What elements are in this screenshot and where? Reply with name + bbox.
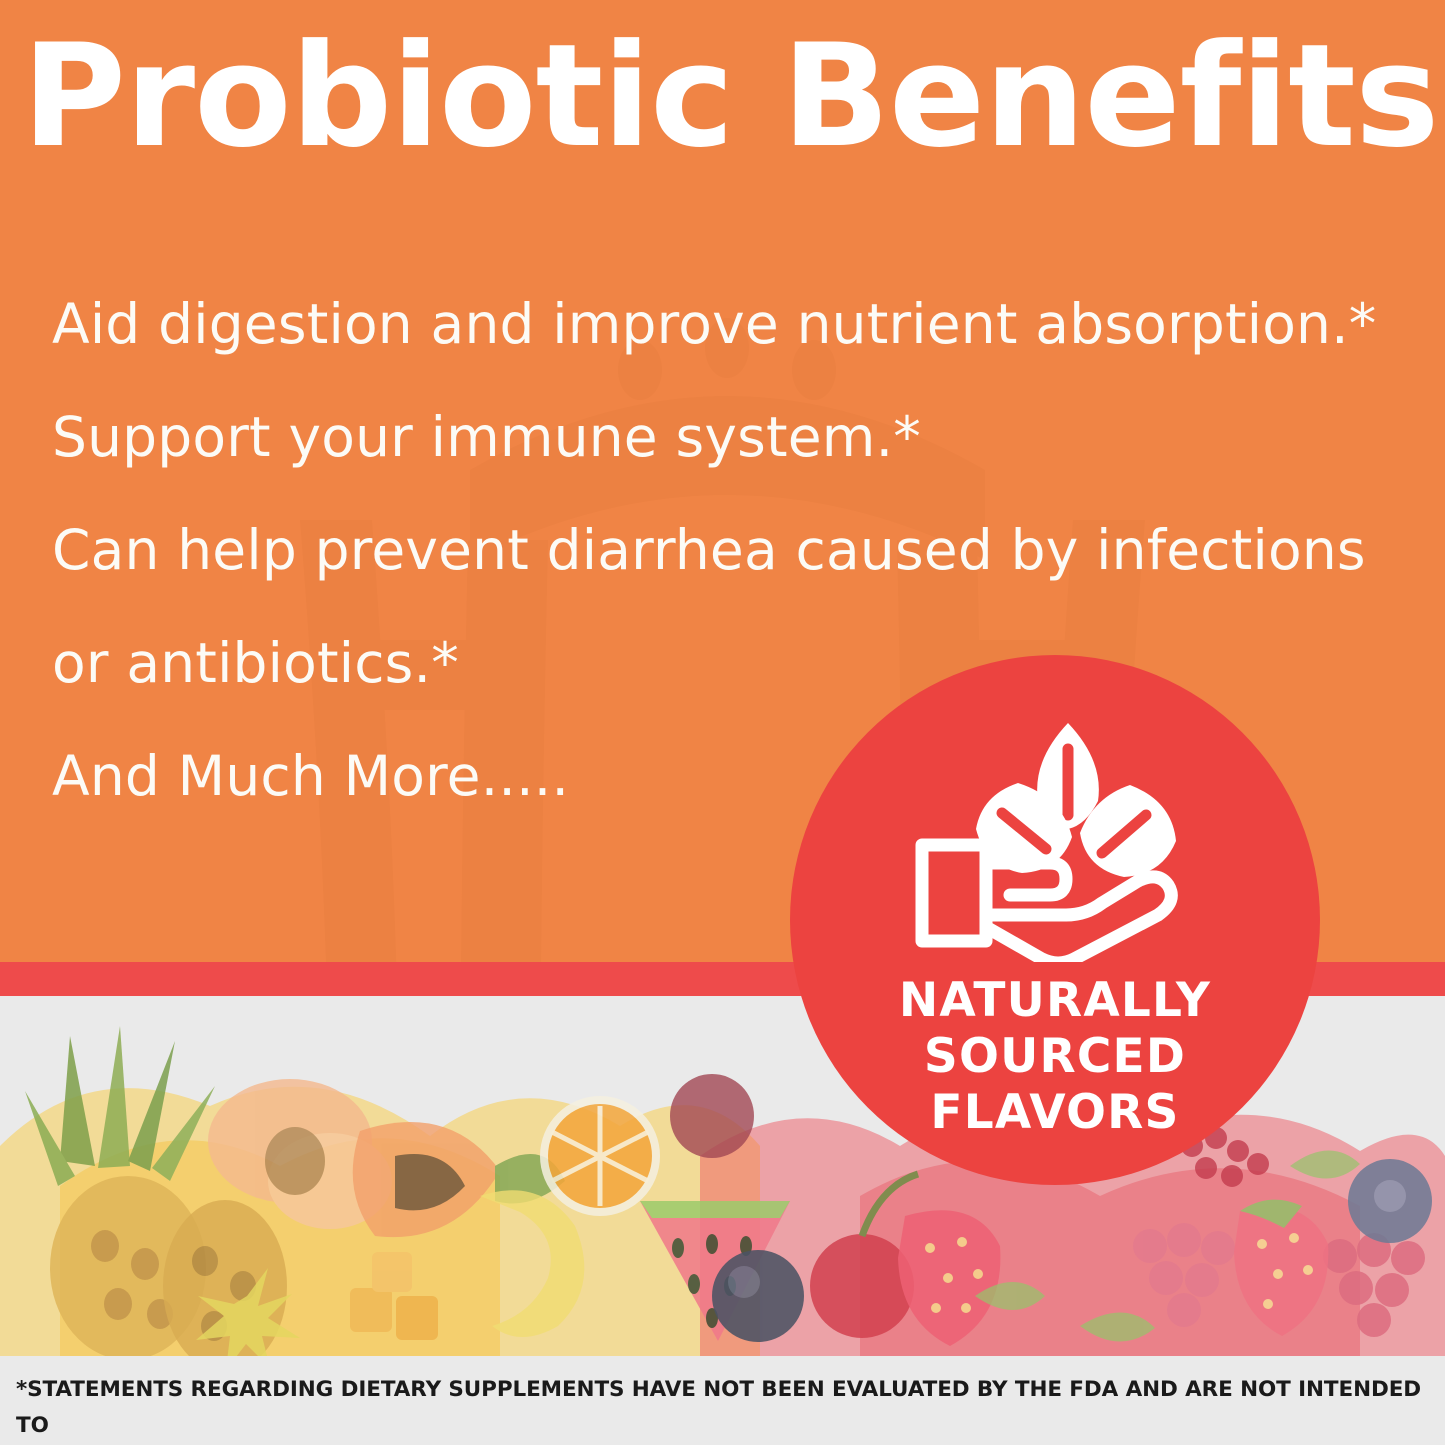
- naturally-sourced-flavors-badge: NATURALLY SOURCED FLAVORS: [790, 655, 1320, 1185]
- probiotic-benefits-poster: Probiotic Benefits Aid digestion and imp…: [0, 0, 1445, 1445]
- disclaimer-line-1: *STATEMENTS REGARDING DIETARY SUPPLEMENT…: [16, 1372, 1428, 1444]
- fda-disclaimer: *STATEMENTS REGARDING DIETARY SUPPLEMENT…: [16, 1372, 1428, 1445]
- badge-line-3: FLAVORS: [790, 1085, 1320, 1141]
- hand-holding-plant-icon: [890, 697, 1220, 962]
- badge-line-2: SOURCED: [790, 1029, 1320, 1085]
- benefit-item: Can help prevent diarrhea caused by infe…: [52, 494, 1392, 607]
- badge-text-block: NATURALLY SOURCED FLAVORS: [790, 973, 1320, 1141]
- benefit-item: Support your immune system.*: [52, 381, 1392, 494]
- badge-line-1: NATURALLY: [790, 973, 1320, 1029]
- page-title: Probiotic Benefits: [22, 26, 1422, 168]
- benefit-item: Aid digestion and improve nutrient absor…: [52, 268, 1392, 381]
